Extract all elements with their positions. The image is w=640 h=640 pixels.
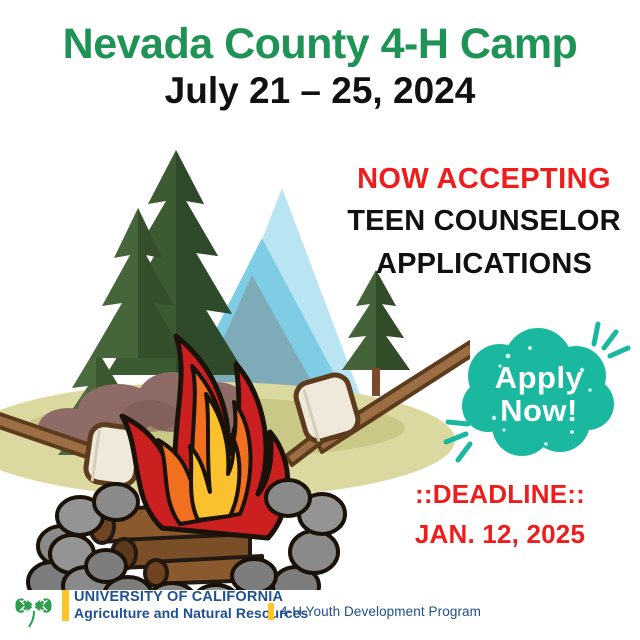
deadline-label: ::DEADLINE:: <box>362 479 638 510</box>
footer-bar: H H H H UNIVERSITY OF CALIFORNIA Agricul… <box>0 578 640 640</box>
burst-lines-top-right <box>594 324 628 356</box>
apply-now-badge-shape[interactable] <box>438 318 640 470</box>
stone <box>266 480 310 516</box>
stone <box>290 531 338 573</box>
camp-dates: July 21 – 25, 2024 <box>0 72 640 111</box>
university-name: UNIVERSITY OF CALIFORNIA <box>74 589 283 605</box>
tree-foliage-dark <box>376 270 410 370</box>
program-gold-bar <box>268 603 274 620</box>
program-name: 4-H Youth Development Program <box>280 604 481 619</box>
apply-now-badge[interactable]: Apply Now! <box>438 318 640 470</box>
announcement-line-3: APPLICATIONS <box>330 248 638 281</box>
burst-lines-bottom-left <box>446 422 470 460</box>
deadline-date: JAN. 12, 2025 <box>362 519 638 550</box>
announcement-line-2: TEEN COUNSELOR <box>330 205 638 238</box>
announcement-line-1: NOW ACCEPTING <box>330 163 638 196</box>
uc-gold-bar <box>62 590 69 621</box>
4-h-clover-icon: H H H H <box>12 584 56 637</box>
tree-trunk <box>372 368 380 396</box>
page-title: Nevada County 4-H Camp <box>0 22 640 67</box>
poster-canvas: Nevada County 4-H Camp July 21 – 25, 202… <box>0 0 640 640</box>
stone <box>94 484 138 520</box>
badge-blob[interactable] <box>462 328 614 456</box>
